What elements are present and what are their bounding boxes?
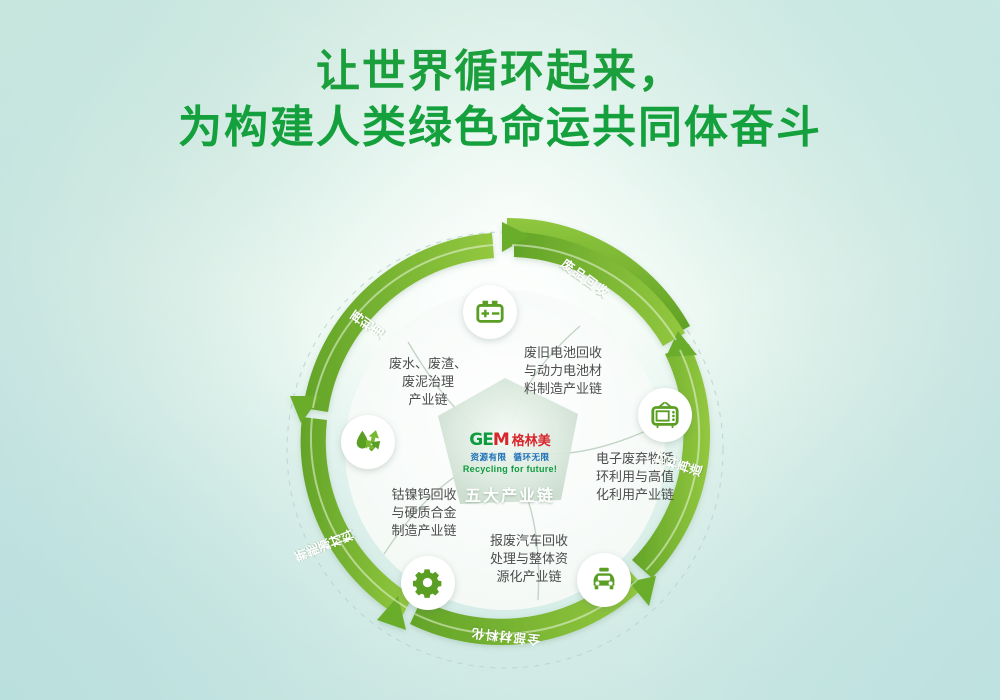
center-caption: 五大产业链 xyxy=(455,482,565,506)
chain-label-waste-water: 废水、废渣、 废泥治理 产业链 xyxy=(368,355,488,409)
icon-bubble-tv[interactable] xyxy=(638,388,692,442)
battery-icon xyxy=(475,297,505,327)
icon-bubble-water-recycle[interactable] xyxy=(341,415,395,469)
slogan-left: 资源有限 xyxy=(470,452,506,462)
gem-logo-wordmark-row: GEM 格林美 xyxy=(455,432,565,449)
icon-bubble-car[interactable] xyxy=(577,553,631,607)
gem-logo-slogan-cn: 资源有限循环无限 xyxy=(455,451,565,463)
water-recycle-icon xyxy=(352,426,384,458)
icon-bubble-gear[interactable] xyxy=(401,556,455,610)
poster-canvas: 让世界循环起来， 为构建人类绿色命运共同体奋斗 xyxy=(0,0,1000,700)
gem-logo-slogan-en: Recycling for future! xyxy=(455,464,565,474)
slogan-right: 循环无限 xyxy=(514,452,550,462)
gear-icon xyxy=(413,568,443,598)
car-icon xyxy=(588,564,620,596)
chain-label-vehicle: 报废汽车回收 处理与整体资 源化产业链 xyxy=(470,532,588,586)
icon-bubble-battery[interactable] xyxy=(463,285,517,339)
chain-label-battery: 废旧电池回收 与动力电池材 料制造产业链 xyxy=(498,344,628,398)
title-line-1: 让世界循环起来， xyxy=(0,44,1000,100)
tv-icon xyxy=(650,400,680,430)
gem-logo-mark: GEM xyxy=(469,432,509,449)
title-line-2: 为构建人类绿色命运共同体奋斗 xyxy=(0,100,1000,156)
page-title: 让世界循环起来， 为构建人类绿色命运共同体奋斗 xyxy=(0,44,1000,156)
gem-logo: GEM 格林美 资源有限循环无限 Recycling for future! xyxy=(455,432,565,474)
gem-logo-chinese-name: 格林美 xyxy=(512,434,551,447)
